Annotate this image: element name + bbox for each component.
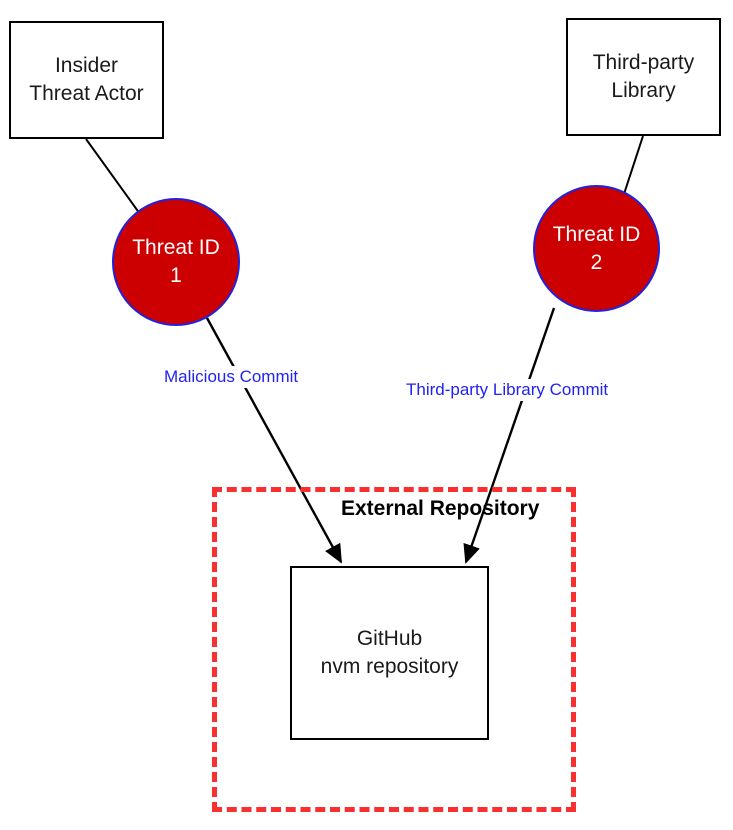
node-label-line1: Insider	[55, 54, 118, 77]
node-label-line2: 2	[591, 251, 603, 274]
edge-label-malicious-commit: Malicious Commit	[162, 366, 300, 388]
node-label-line1: Threat ID	[132, 236, 220, 259]
node-threat-id-1[interactable]: Threat ID 1	[112, 198, 240, 326]
node-insider-threat-actor[interactable]: Insider Threat Actor	[9, 21, 164, 139]
node-label-threat-id-1: Threat ID 1	[132, 234, 220, 289]
node-threat-id-2[interactable]: Threat ID 2	[533, 185, 660, 312]
node-label-line1: GitHub	[357, 627, 422, 650]
node-label-line2: nvm repository	[321, 655, 459, 678]
group-label-external-repository: External Repository	[341, 497, 539, 521]
node-label-threat-id-2: Threat ID 2	[553, 221, 641, 276]
node-label-line1: Threat ID	[553, 223, 641, 246]
diagram-canvas: External Repository Insider Threat Actor…	[0, 0, 733, 830]
node-label-line2: Library	[611, 79, 675, 102]
node-label-insider-threat-actor: Insider Threat Actor	[29, 52, 143, 109]
edge-library-to-threat2	[624, 136, 643, 194]
node-label-line1: Third-party	[593, 51, 695, 74]
node-label-line2: Threat Actor	[29, 82, 143, 105]
node-label-github-nvm-repository: GitHub nvm repository	[321, 625, 459, 682]
node-github-nvm-repository[interactable]: GitHub nvm repository	[290, 566, 489, 740]
node-label-line2: 1	[170, 264, 182, 287]
edge-label-third-party-library-commit: Third-party Library Commit	[404, 379, 610, 401]
node-label-third-party-library: Third-party Library	[593, 49, 695, 106]
node-third-party-library[interactable]: Third-party Library	[566, 18, 721, 136]
edge-insider-to-threat1	[86, 139, 140, 214]
